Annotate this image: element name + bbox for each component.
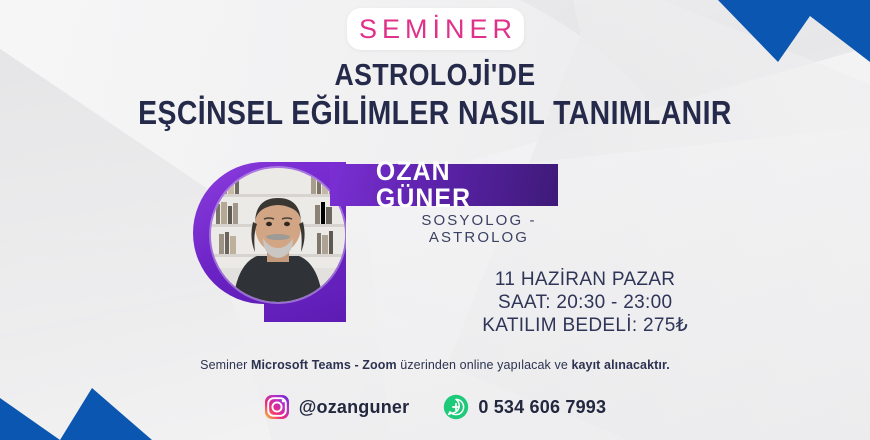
headline-line-2: EŞCİNSEL EĞİLİMLER NASIL TANIMLANIR	[61, 94, 809, 132]
seminar-badge-label: SEMİNER	[354, 16, 517, 43]
headline-line-1: ASTROLOJİ'DE	[61, 58, 809, 93]
corner-zigzag-top-right	[718, 0, 870, 62]
whatsapp-add-contact-icon	[443, 394, 469, 420]
fineprint-part-2: üzerinden online yapılacak ve	[397, 358, 572, 372]
seminar-poster: SEMİNER ASTROLOJİ'DE EŞCİNSEL EĞİLİMLER …	[0, 0, 870, 440]
avatar	[211, 168, 345, 302]
fineprint-platforms: Microsoft Teams - Zoom	[251, 358, 397, 372]
instagram-icon	[264, 394, 290, 420]
contact-instagram[interactable]: @ozanguner	[264, 394, 410, 420]
event-date: 11 HAZİRAN PAZAR	[482, 268, 688, 291]
fineprint-note: Seminer Microsoft Teams - Zoom üzerinden…	[0, 358, 870, 372]
page-title: ASTROLOJİ'DE EŞCİNSEL EĞİLİMLER NASIL TA…	[0, 58, 870, 132]
event-price: KATILIM BEDELİ: 275₺	[482, 314, 688, 337]
fineprint-recording: kayıt alınacaktır.	[571, 358, 669, 372]
seminar-badge: SEMİNER	[347, 8, 524, 50]
speaker-photo-group	[193, 158, 353, 330]
contact-row: @ozanguner 0 534 606 7993	[0, 394, 870, 420]
event-details: 11 HAZİRAN PAZAR SAAT: 20:30 - 23:00 KAT…	[482, 268, 688, 337]
contact-whatsapp[interactable]: 0 534 606 7993	[443, 394, 606, 420]
speaker-title: SOSYOLOG - ASTROLOG	[330, 212, 586, 246]
speaker-name-banner: OZAN GÜNER	[330, 164, 558, 206]
fineprint-part-1: Seminer	[200, 358, 251, 372]
speaker-name: OZAN GÜNER	[339, 158, 549, 212]
phone-number: 0 534 606 7993	[478, 398, 606, 416]
instagram-handle: @ozanguner	[299, 398, 410, 416]
event-time: SAAT: 20:30 - 23:00	[482, 291, 688, 314]
